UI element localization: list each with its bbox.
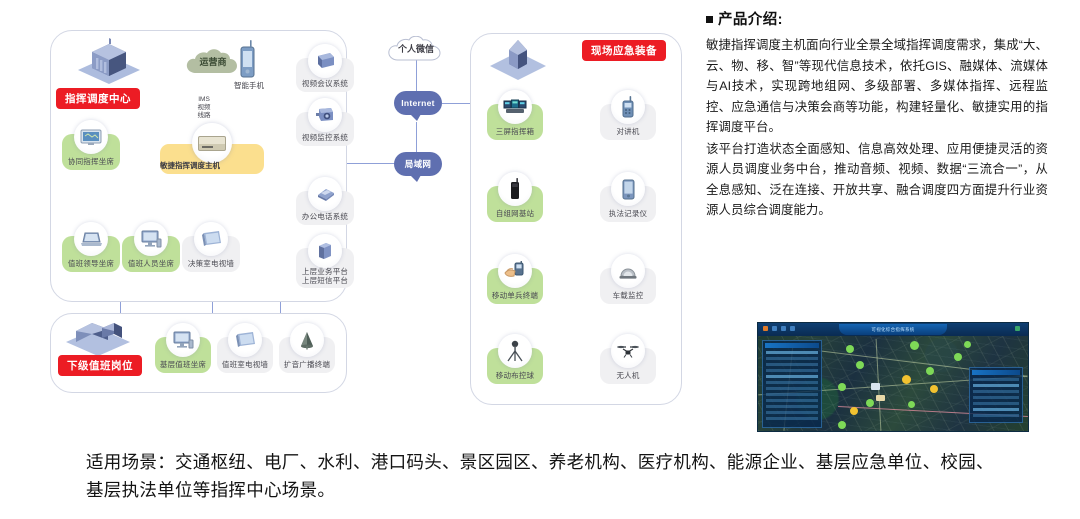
panel-row[interactable] <box>766 363 818 366</box>
node-label: 对讲机 <box>600 127 656 136</box>
topbar-icon[interactable] <box>1015 326 1020 331</box>
node-label: 办公电话系统 <box>296 212 354 221</box>
product-intro-panel: 产品介绍: 敏捷指挥调度主机面向行业全景全域指挥调度需求，集成“大、云、物、移、… <box>706 8 1048 222</box>
node-duty-leader-seat[interactable]: 值班领导坐席 <box>62 236 120 272</box>
node-vehicle-surveillance[interactable]: 车载监控 <box>600 268 656 304</box>
map-marker[interactable] <box>964 341 971 348</box>
node-label: 无人机 <box>600 371 656 380</box>
drone-icon <box>611 334 645 368</box>
panel-row[interactable] <box>766 417 818 420</box>
console-screen-icon <box>74 120 108 154</box>
command-center-badge: 指挥调度中心 <box>56 88 140 109</box>
node-label: 视频会议系统 <box>296 79 354 88</box>
node-law-enforcement-recorder[interactable]: 执法记录仪 <box>600 186 656 222</box>
panel-row[interactable] <box>766 393 818 396</box>
panel-paragraph-2: 该平台打造状态全面感知、信息高效处理、应用便捷灵活的资源人员调度业务中台，推动音… <box>706 139 1048 221</box>
personal-wechat-label: 个人微信 <box>398 45 434 55</box>
internet-label: Internet <box>401 98 435 108</box>
field-site-icon <box>487 36 549 86</box>
panel-row[interactable] <box>766 369 818 372</box>
panel-row[interactable] <box>766 399 818 402</box>
panel-heading: 产品介绍: <box>706 8 1048 29</box>
lan-bubble: 局域网 <box>394 152 442 176</box>
subordinate-duty-badge: 下级值班岗位 <box>58 355 142 376</box>
bullet-square-icon <box>706 16 713 23</box>
desk-phone-icon <box>308 177 342 211</box>
panel-row[interactable] <box>973 396 1019 399</box>
node-label: 基层值班坐席 <box>155 360 211 369</box>
subordinate-building-icon <box>62 316 134 360</box>
node-drone[interactable]: 无人机 <box>600 348 656 384</box>
node-video-surveillance-system[interactable]: 视频监控系统 <box>296 112 354 146</box>
panel-row[interactable] <box>766 351 818 354</box>
map-marker[interactable] <box>838 421 846 429</box>
field-equipment-badge: 现场应急装备 <box>582 40 666 61</box>
detail-side-panel[interactable] <box>969 367 1023 423</box>
node-public-address-terminal[interactable]: 扩音广播终端 <box>279 337 335 373</box>
panel-header <box>972 370 1020 375</box>
node-decision-room-video-wall[interactable]: 决策室电视墙 <box>182 236 240 272</box>
node-triple-screen-command-case[interactable]: 三屏指挥箱 <box>487 104 543 140</box>
node-duty-staff-seat[interactable]: 值班人员坐席 <box>122 236 180 272</box>
node-label: 移动单兵终端 <box>487 291 543 300</box>
node-walkie-talkie[interactable]: 对讲机 <box>600 104 656 140</box>
smartphone-label: 智能手机 <box>226 80 272 91</box>
dashboard-title: 可视化综合指挥系统 <box>839 324 947 335</box>
panel-row[interactable] <box>766 411 818 414</box>
topbar-icon[interactable] <box>763 326 768 331</box>
node-label: 扩音广播终端 <box>279 360 335 369</box>
panel-row[interactable] <box>766 381 818 384</box>
node-label: 决策室电视墙 <box>182 259 240 268</box>
ims-line-label: IMS 视频 线路 <box>196 96 212 120</box>
node-label: 上层业务平台 上层短信平台 <box>296 267 354 285</box>
triple-screen-case-icon <box>498 90 532 124</box>
cctv-camera-icon <box>308 98 342 132</box>
map-marker-alert[interactable] <box>902 375 911 384</box>
map-marker[interactable] <box>856 361 864 369</box>
mesh-base-station-icon <box>498 172 532 206</box>
platform-server-icon <box>308 234 342 268</box>
map-marker[interactable] <box>910 341 919 350</box>
node-label: 自组网基站 <box>487 209 543 218</box>
carrier-cloud: 运营商 <box>182 48 244 78</box>
panel-header <box>765 343 819 348</box>
internet-bubble: Internet <box>394 91 442 115</box>
connector-line <box>416 122 417 152</box>
node-label: 执法记录仪 <box>600 209 656 218</box>
node-label: 车载监控 <box>600 291 656 300</box>
walkie-talkie-icon <box>611 90 645 124</box>
video-conference-icon <box>308 44 342 78</box>
node-label: 协同指挥坐席 <box>62 157 120 166</box>
node-duty-room-video-wall[interactable]: 值班室电视墙 <box>217 337 273 373</box>
slide-page: 指挥调度中心 协同指挥坐席 运营商 智能手机 IMS 视频 线路 <box>0 0 1080 519</box>
node-label: 三屏指挥箱 <box>487 127 543 136</box>
panel-row[interactable] <box>766 357 818 360</box>
map-marker[interactable] <box>954 353 962 361</box>
personal-wechat-cloud: 个人微信 <box>384 36 448 64</box>
node-mobile-single-soldier-terminal[interactable]: 移动单兵终端 <box>487 268 543 304</box>
handheld-terminal-icon <box>498 254 532 288</box>
panel-row[interactable] <box>973 402 1019 405</box>
laptop-icon <box>74 222 108 256</box>
map-marker[interactable] <box>926 367 934 375</box>
map-marker-alert[interactable] <box>850 407 858 415</box>
topbar-icon[interactable] <box>790 326 795 331</box>
node-mobile-surveillance-ball[interactable]: 移动布控球 <box>487 348 543 384</box>
agile-command-host[interactable]: 敏捷指挥调度主机 <box>160 144 264 174</box>
panel-row[interactable] <box>973 390 1019 393</box>
desktop-computer-icon <box>166 323 200 357</box>
map-label-chip <box>871 383 880 390</box>
node-video-conference-system[interactable]: 视频会议系统 <box>296 58 354 92</box>
map-marker[interactable] <box>908 401 915 408</box>
map-marker[interactable] <box>846 345 854 353</box>
node-mesh-base-station[interactable]: 自组网基站 <box>487 186 543 222</box>
panel-row[interactable] <box>973 378 1019 381</box>
carrier-cloud-label: 运营商 <box>199 58 226 68</box>
architecture-diagram: 指挥调度中心 协同指挥坐席 运营商 智能手机 IMS 视频 线路 <box>0 0 700 430</box>
desktop-computer-icon <box>134 222 168 256</box>
node-collaborative-command-seat[interactable]: 协同指挥坐席 <box>62 134 120 170</box>
dome-camera-icon <box>611 254 645 288</box>
panel-row[interactable] <box>973 384 1019 387</box>
node-label: 视频监控系统 <box>296 133 354 142</box>
server-icon <box>192 123 232 163</box>
panel-row[interactable] <box>766 387 818 390</box>
node-label: 值班人员坐席 <box>122 259 180 268</box>
panel-row[interactable] <box>766 405 818 408</box>
node-grassroots-duty-seat[interactable]: 基层值班坐席 <box>155 337 211 373</box>
map-marker[interactable] <box>838 383 846 391</box>
body-camera-icon <box>611 172 645 206</box>
panel-row[interactable] <box>973 408 1019 411</box>
panel-row[interactable] <box>973 414 1019 417</box>
layers-side-panel[interactable] <box>762 340 822 428</box>
node-label: 值班室电视墙 <box>217 360 273 369</box>
map-label-chip <box>876 395 885 401</box>
smartphone-icon <box>240 40 256 78</box>
host-label: 敏捷指挥调度主机 <box>160 160 264 171</box>
panel-row[interactable] <box>766 375 818 378</box>
loudspeaker-icon <box>290 323 324 357</box>
map-marker[interactable] <box>866 399 874 407</box>
node-label: 移动布控球 <box>487 371 543 380</box>
map-marker-alert[interactable] <box>930 385 938 393</box>
tv-wall-icon <box>228 323 262 357</box>
node-upper-service-platform[interactable]: 上层业务平台 上层短信平台 <box>296 248 354 288</box>
node-office-telephone-system[interactable]: 办公电话系统 <box>296 191 354 225</box>
gis-dashboard-screenshot: 可视化综合指挥系统 <box>757 322 1029 432</box>
tripod-camera-icon <box>498 334 532 368</box>
lan-label: 局域网 <box>405 158 431 170</box>
node-label: 值班领导坐席 <box>62 259 120 268</box>
tv-wall-icon <box>194 222 228 256</box>
headquarters-building-icon <box>72 38 146 90</box>
applicable-scenarios-caption: 适用场景：交通枢纽、电厂、水利、港口码头、景区园区、养老机构、医疗机构、能源企业… <box>86 448 1006 504</box>
panel-paragraph-1: 敏捷指挥调度主机面向行业全景全域指挥调度需求，集成“大、云、物、移、智”等现代信… <box>706 35 1048 138</box>
topbar-icon[interactable] <box>772 326 777 331</box>
topbar-icon[interactable] <box>781 326 786 331</box>
